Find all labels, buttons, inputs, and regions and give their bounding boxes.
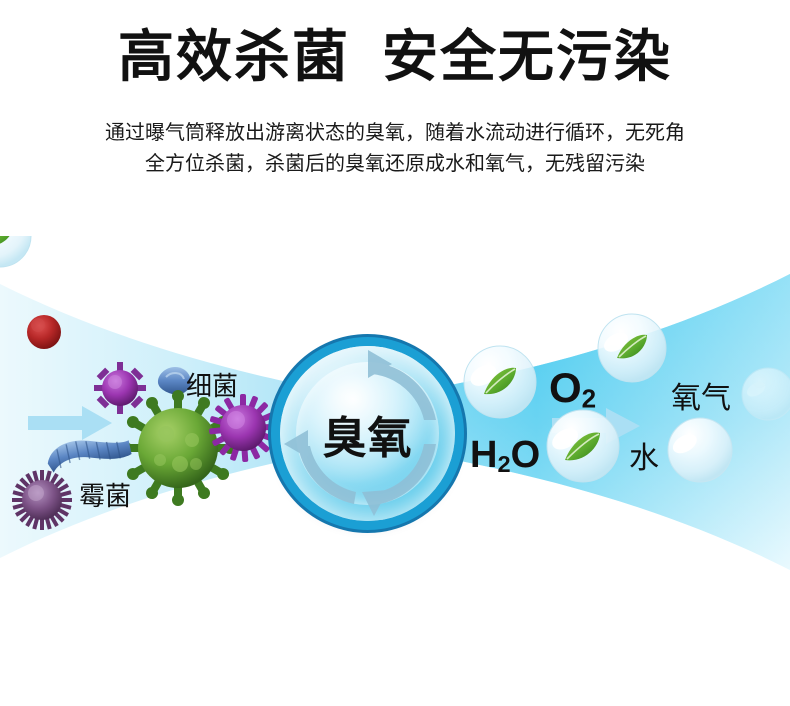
label-mold: 霉菌 (79, 476, 131, 513)
o2-element: O (549, 364, 582, 411)
page-title: 高效杀菌 安全无污染 (0, 26, 790, 90)
leaf-bubble-icon (598, 314, 666, 382)
h2o-tail: O (511, 434, 541, 476)
o2-subscript: 2 (582, 384, 596, 414)
h2o-subscript: 2 (497, 451, 510, 477)
label-water: 水 (629, 433, 659, 477)
label-bacteria: 细菌 (186, 366, 238, 403)
plain-bubble-icon (668, 418, 732, 482)
red-coccus-icon (27, 315, 61, 349)
ozone-label: 臭氧 (280, 346, 455, 521)
ozone-core: 臭氧 (280, 346, 455, 521)
page-subtitle: 通过曝气筒释放出游离状态的臭氧，随着水流动进行循环，无死角 全方位杀菌，杀菌后的… (15, 118, 775, 180)
label-h2o-formula: H2O (470, 434, 540, 478)
purple-urchin-icon (12, 470, 72, 530)
leaf-bubble-icon (547, 410, 619, 482)
subtitle-line-1: 通过曝气筒释放出游离状态的臭氧，随着水流动进行循环，无死角 (15, 118, 775, 149)
subtitle-line-2: 全方位杀菌，杀菌后的臭氧还原成水和氧气，无残留污染 (15, 149, 775, 180)
label-oxygen: 氧气 (671, 373, 731, 417)
plain-bubble-icon (742, 368, 790, 420)
label-o2-formula: O2 (549, 364, 596, 415)
leaf-bubble-icon (0, 236, 31, 267)
ozone-cycle-diagram: 臭氧 细菌 霉菌 O2 H2O 氧气 水 (0, 236, 790, 606)
product-infographic: 高效杀菌 安全无污染 通过曝气筒释放出游离状态的臭氧，随着水流动进行循环，无死角… (0, 0, 790, 706)
h2o-element: H (470, 434, 497, 476)
leaf-bubble-icon (464, 346, 536, 418)
